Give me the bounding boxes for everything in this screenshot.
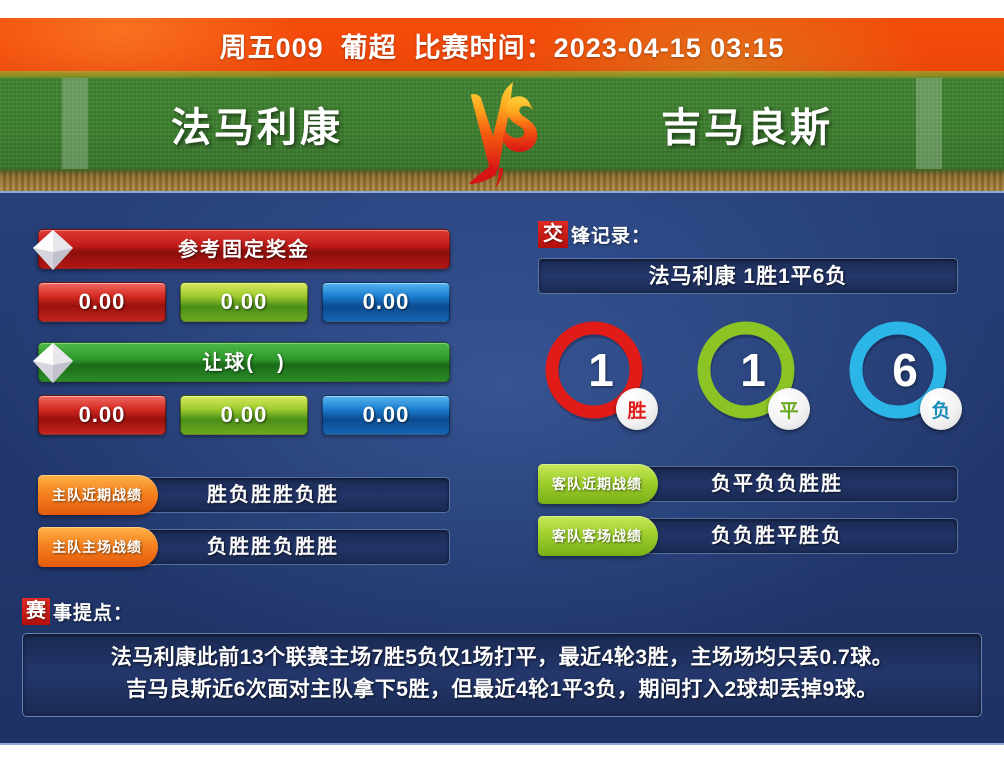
diamond-gem-icon [27, 337, 79, 389]
h2h-column: 交 锋记录： 法马利康 1胜1平6负 1 胜 [538, 221, 958, 570]
h2h-badge: 交 [538, 221, 568, 248]
analysis-line: 吉马良斯近6次面对主队拿下5胜，但最近4轮1平3负，期间打入2球却丢掉9球。 [35, 674, 969, 706]
away-away-form-row: 负负胜平胜负 客队客场战绩 [538, 518, 958, 554]
diamond-gem-icon [27, 224, 79, 276]
h2h-ring-win: 1 胜 [538, 314, 650, 426]
h2h-ring-lose-label: 负 [920, 388, 962, 430]
away-away-form-value: 负负胜平胜负 [538, 518, 958, 554]
handicap-odds-lose-button[interactable]: 0.00 [322, 395, 450, 435]
h2h-heading-text: 锋记录： [571, 221, 651, 248]
fixed-odds-win-button[interactable]: 0.00 [38, 282, 166, 322]
h2h-ring-draw-label: 平 [768, 388, 810, 430]
home-home-form-row: 负胜胜负胜胜 主队主场战绩 [38, 529, 450, 565]
fixed-odds-title: 参考固定奖金 [39, 230, 449, 270]
analysis-section: 赛 事提点： 法马利康此前13个联赛主场7胜5负仅1场打平，最近4轮3胜，主场场… [22, 598, 982, 717]
page-title: 周五009 葡超 比赛时间：2023-04-15 03:15 [0, 18, 1004, 78]
header-bar: 周五009 葡超 比赛时间：2023-04-15 03:15 [0, 18, 1004, 78]
fixed-odds-header: 参考固定奖金 [38, 229, 450, 269]
away-recent-form-value: 负平负负胜胜 [538, 466, 958, 502]
fixed-odds-row: 0.00 0.00 0.00 [38, 282, 450, 322]
fixed-odds-lose-button[interactable]: 0.00 [322, 282, 450, 322]
analysis-line: 法马利康此前13个联赛主场7胜5负仅1场打平，最近4轮3胜，主场场均只丢0.7球… [35, 642, 969, 674]
analysis-heading-text: 事提点： [53, 598, 133, 625]
analysis-heading: 赛 事提点： [22, 598, 982, 625]
match-preview-page: 周五009 葡超 比赛时间：2023-04-15 03:15 法马利康 吉马良斯 [0, 0, 1004, 757]
home-home-form-value: 负胜胜负胜胜 [38, 529, 450, 565]
pitch-line-right [916, 78, 942, 170]
odds-column: 参考固定奖金 0.00 0.00 0.00 让球( ) 0.00 0 [38, 229, 450, 581]
handicap-odds-row: 0.00 0.00 0.00 [38, 395, 450, 435]
handicap-odds-title: 让球( ) [39, 343, 449, 383]
fixed-odds-draw-button[interactable]: 0.00 [180, 282, 308, 322]
h2h-ring-draw: 1 平 [690, 314, 802, 426]
analysis-box: 法马利康此前13个联赛主场7胜5负仅1场打平，最近4轮3胜，主场场均只丢0.7球… [22, 633, 982, 717]
h2h-ring-win-label: 胜 [616, 388, 658, 430]
h2h-heading: 交 锋记录： [538, 221, 958, 248]
home-recent-form-value: 胜负胜胜负胜 [38, 477, 450, 513]
vs-flame-icon [455, 80, 555, 190]
analysis-badge: 赛 [22, 598, 50, 625]
away-recent-form-row: 负平负负胜胜 客队近期战绩 [538, 466, 958, 502]
home-recent-form-row: 胜负胜胜负胜 主队近期战绩 [38, 477, 450, 513]
handicap-odds-header: 让球( ) [38, 342, 450, 382]
away-team-name: 吉马良斯 [582, 95, 912, 153]
handicap-odds-win-button[interactable]: 0.00 [38, 395, 166, 435]
h2h-summary: 法马利康 1胜1平6负 [538, 258, 958, 294]
main-panel: 参考固定奖金 0.00 0.00 0.00 让球( ) 0.00 0 [0, 191, 1004, 745]
home-team-name: 法马利康 [92, 95, 422, 153]
h2h-rings: 1 胜 1 平 6 负 [538, 314, 958, 426]
pitch-line-left [62, 78, 88, 170]
handicap-odds-draw-button[interactable]: 0.00 [180, 395, 308, 435]
h2h-ring-lose: 6 负 [842, 314, 954, 426]
